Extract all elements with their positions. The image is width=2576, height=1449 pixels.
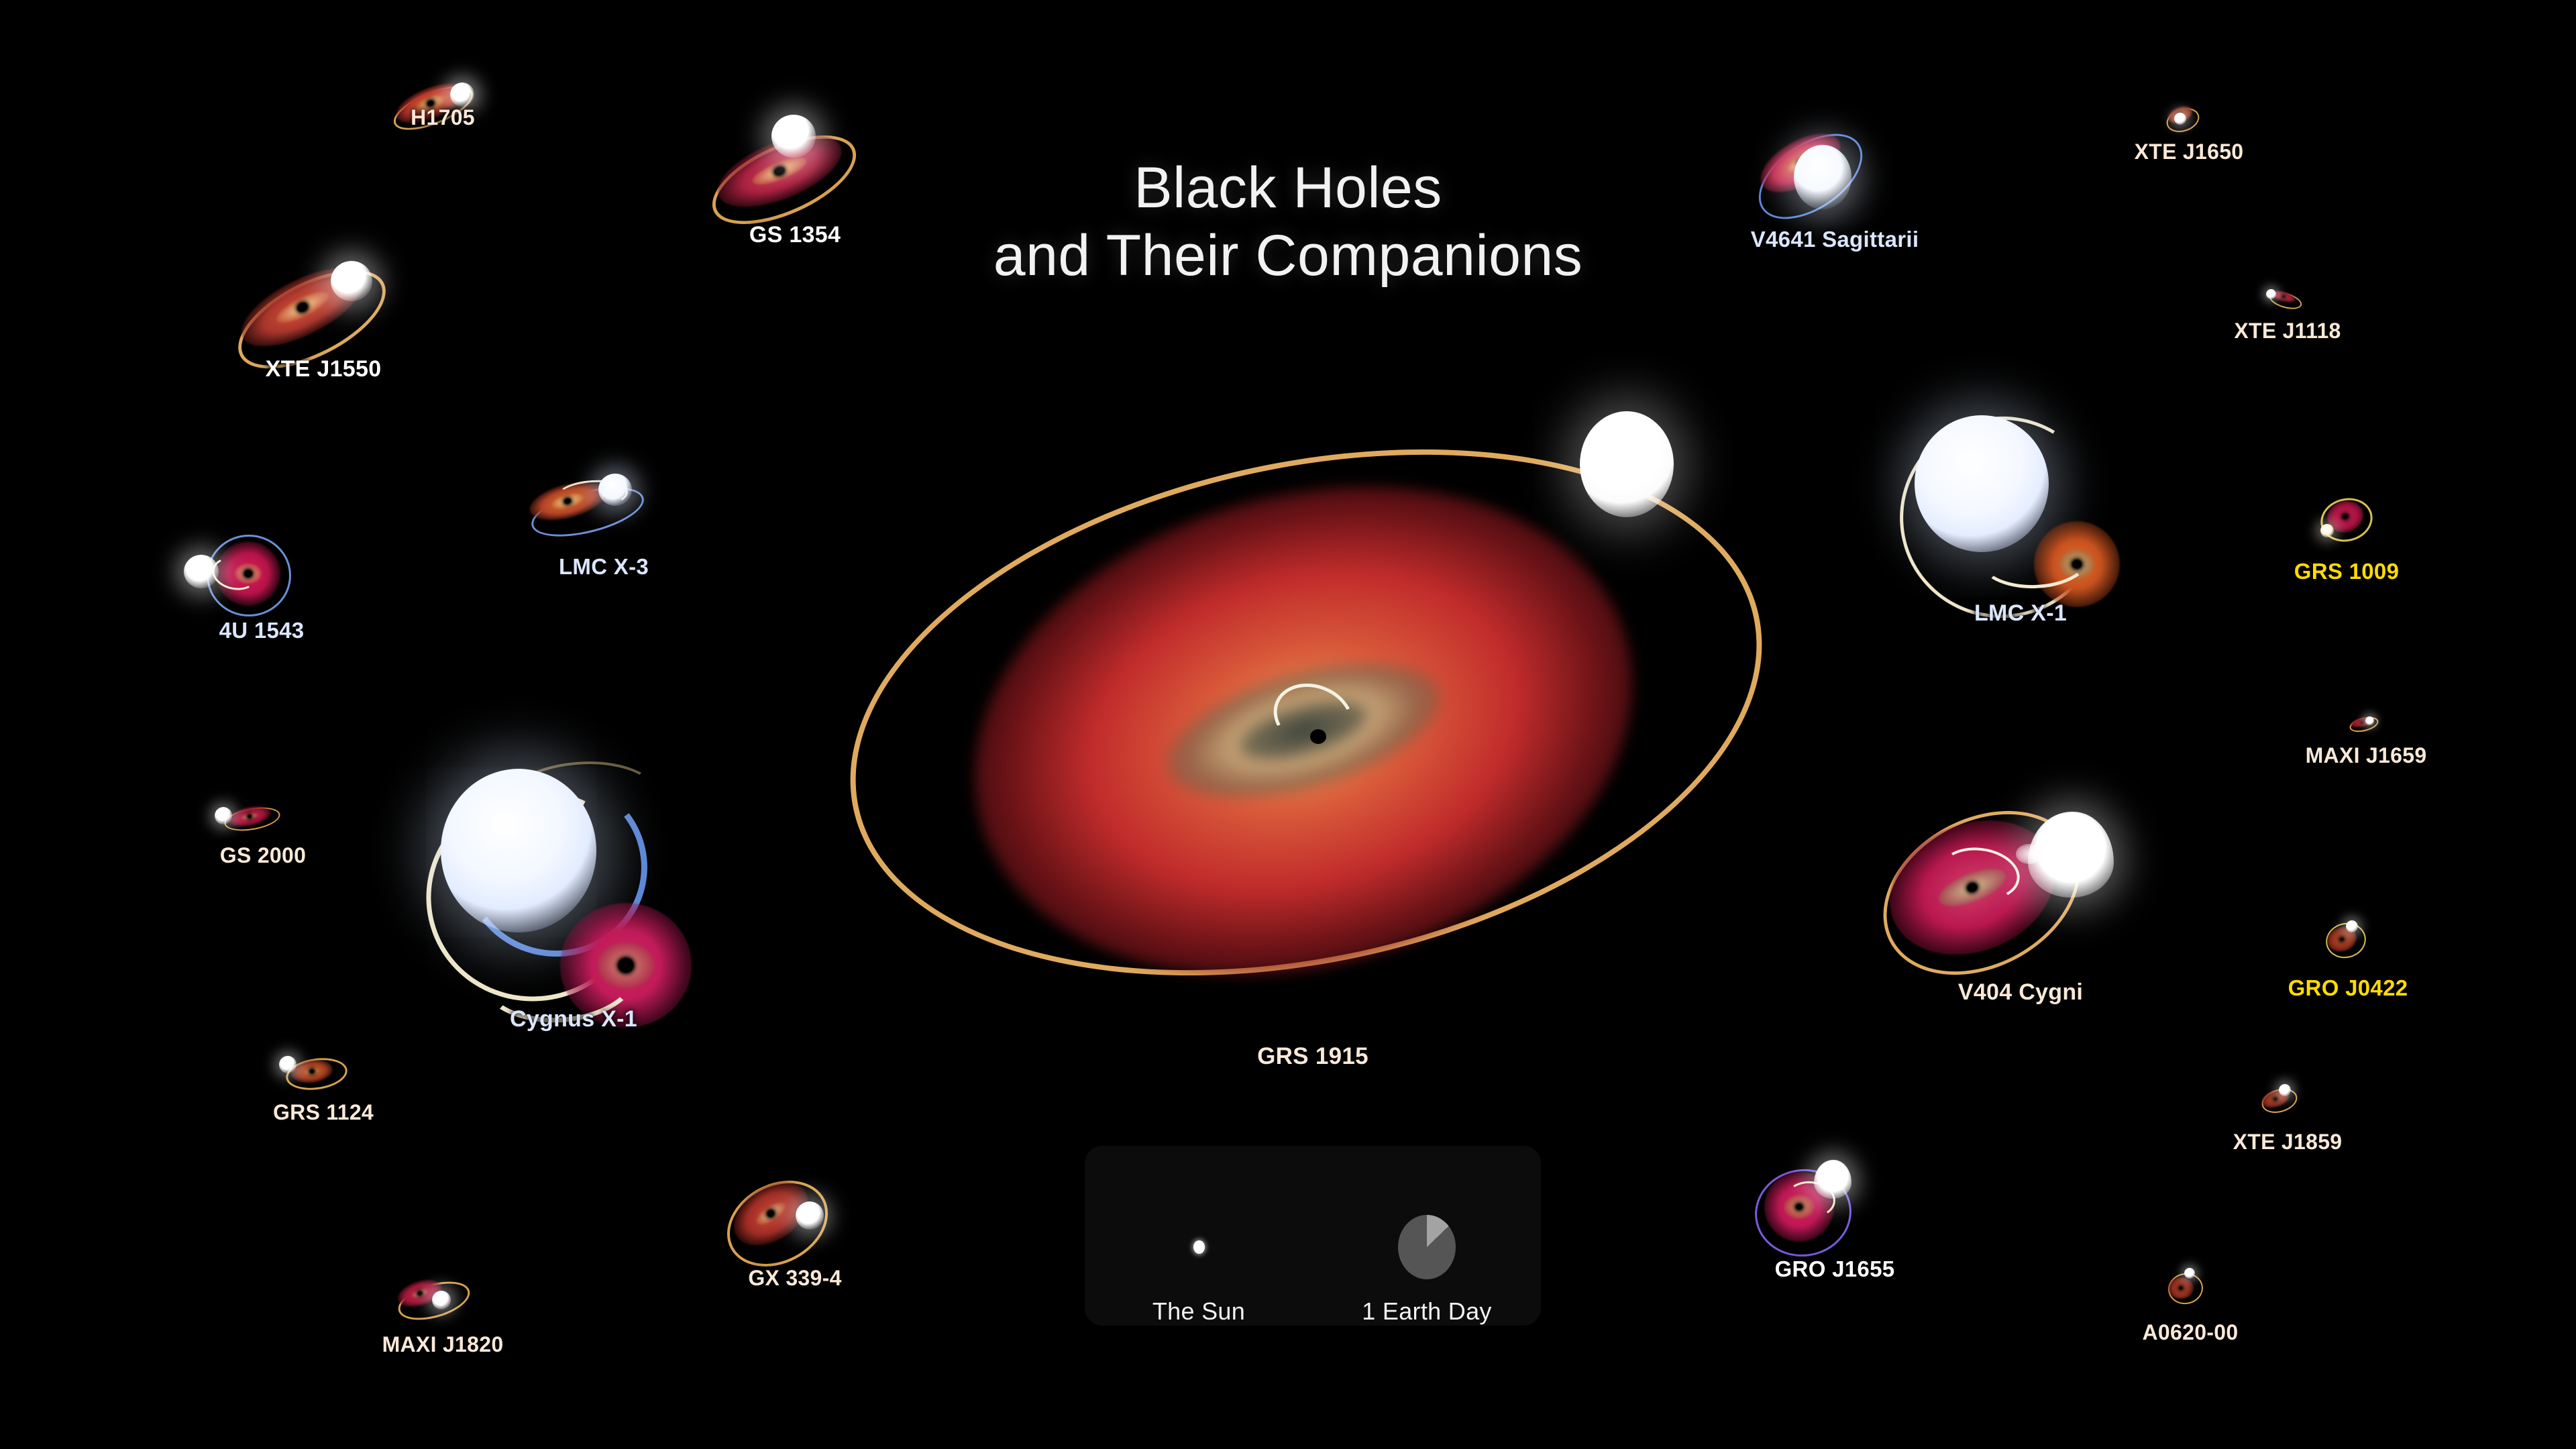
system-xtej1118[interactable]: XTE J1118 xyxy=(2214,252,2361,352)
system-gs2000[interactable]: GS 2000 xyxy=(189,775,337,875)
accretion-disk xyxy=(2168,1277,2194,1299)
system-label: XTE J1118 xyxy=(2234,319,2341,343)
system-grs1009[interactable]: GRS 1009 xyxy=(2269,480,2424,594)
visualization-canvas: Black Holes and Their Companions H1705 xyxy=(0,0,2576,1449)
system-maxij1820[interactable]: MAXI J1820 xyxy=(362,1254,523,1368)
system-label: MAXI J1659 xyxy=(2306,743,2427,768)
companion-star xyxy=(450,83,474,107)
system-art-gs1354 xyxy=(684,111,906,278)
companion-star xyxy=(2320,524,2334,537)
companion-star xyxy=(1794,145,1851,209)
system-label: GS 1354 xyxy=(749,222,841,248)
companion-star xyxy=(2346,920,2358,932)
earth-day-pie-icon xyxy=(1398,1197,1456,1297)
system-xtej1650[interactable]: XTE J1650 xyxy=(2115,74,2263,174)
system-label: V404 Cygni xyxy=(1958,979,2083,1006)
system-groj1655[interactable]: GRO J1655 xyxy=(1731,1150,1939,1305)
title-line-1: Black Holes xyxy=(818,154,1758,222)
system-lmcx1[interactable]: LMC X-1 xyxy=(1866,406,2175,654)
system-lmcx3[interactable]: LMC X-3 xyxy=(517,463,691,597)
system-label: A0620-00 xyxy=(2143,1320,2239,1345)
system-h1705[interactable]: H1705 xyxy=(366,62,520,163)
system-maxij1659[interactable]: MAXI J1659 xyxy=(2289,684,2443,785)
system-groj0422[interactable]: GRO J0422 xyxy=(2271,899,2425,1013)
companion-star xyxy=(598,474,632,506)
system-label: GRS 1009 xyxy=(2294,559,2400,584)
system-label: LMC X-3 xyxy=(559,554,649,580)
system-label: GRO J1655 xyxy=(1775,1256,1895,1282)
system-v4641sgr[interactable]: V4641 Sagittarii xyxy=(1724,127,1945,275)
title-line-2: and Their Companions xyxy=(818,222,1758,290)
system-label: 4U 1543 xyxy=(219,618,305,643)
system-label: LMC X-1 xyxy=(1974,600,2067,627)
system-label: GX 339-4 xyxy=(748,1266,841,1291)
system-gs1354[interactable]: GS 1354 xyxy=(684,111,906,278)
companion-star xyxy=(796,1201,824,1230)
companion-star xyxy=(2365,716,2374,725)
legend-item-earth-day[interactable]: 1 Earth Day xyxy=(1313,1146,1541,1347)
system-label: GRO J0422 xyxy=(2288,975,2408,1001)
system-label: XTE J1550 xyxy=(266,356,382,382)
system-label: V4641 Sagittarii xyxy=(1751,227,1919,252)
companion-star xyxy=(184,555,219,588)
page-title: Black Holes and Their Companions xyxy=(818,154,1758,290)
companion-star xyxy=(279,1056,297,1073)
companion-star xyxy=(2279,1084,2291,1096)
system-xtej1859[interactable]: XTE J1859 xyxy=(2210,1060,2365,1167)
companion-star xyxy=(331,261,372,301)
system-art-v4641sgr xyxy=(1724,127,1945,275)
system-4u1543[interactable]: 4U 1543 xyxy=(174,520,349,654)
legend-item-sun[interactable]: The Sun xyxy=(1085,1146,1313,1347)
system-grs1124[interactable]: GRS 1124 xyxy=(250,1026,397,1134)
companion-star xyxy=(2266,289,2276,299)
system-label: H1705 xyxy=(411,105,475,130)
system-gx3394[interactable]: GX 339-4 xyxy=(698,1164,892,1311)
system-label: GRS 1915 xyxy=(1257,1043,1368,1070)
companion-star xyxy=(215,807,232,824)
system-art-xtej1550 xyxy=(213,252,434,419)
system-label: MAXI J1820 xyxy=(382,1332,504,1357)
system-label: XTE J1859 xyxy=(2233,1130,2343,1155)
system-a062000[interactable]: A0620-00 xyxy=(2113,1248,2267,1355)
companion-star xyxy=(441,769,596,932)
system-label: XTE J1650 xyxy=(2135,140,2244,164)
companion-star xyxy=(1814,1160,1851,1199)
companion-star xyxy=(2174,113,2186,125)
legend-caption-earth-day: 1 Earth Day xyxy=(1362,1297,1491,1326)
system-label: GRS 1124 xyxy=(273,1100,374,1125)
companion-star xyxy=(432,1291,451,1309)
sun-dot-icon xyxy=(1193,1197,1205,1297)
system-v404cygni[interactable]: V404 Cygni xyxy=(1863,778,2178,1040)
system-label: Cygnus X-1 xyxy=(510,1006,637,1032)
companion-star xyxy=(2184,1268,2195,1279)
legend-caption-sun: The Sun xyxy=(1152,1297,1245,1326)
companion-star xyxy=(771,115,816,158)
system-xtej1550[interactable]: XTE J1550 xyxy=(213,252,434,419)
system-art-grs1915 xyxy=(810,386,1816,1097)
companion-star xyxy=(1580,411,1674,517)
scale-legend-panel: The Sun 1 Earth Day xyxy=(1085,1146,1541,1326)
system-art-maxij1659 xyxy=(2289,684,2443,785)
system-cygnusx1[interactable]: Cygnus X-1 xyxy=(399,758,748,1080)
mass-transfer-neck xyxy=(2016,844,2043,864)
system-grs1915[interactable]: GRS 1915 xyxy=(810,386,1816,1097)
system-label: GS 2000 xyxy=(220,843,306,868)
